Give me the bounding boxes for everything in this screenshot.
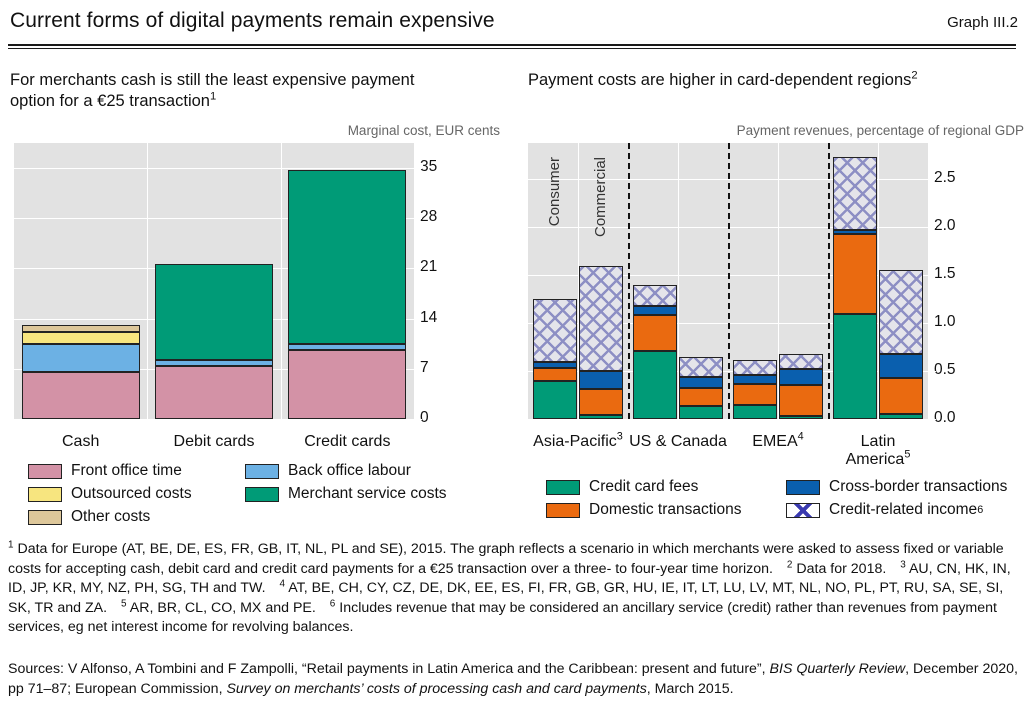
- segment-domestic-transactions: [733, 384, 777, 405]
- segment-cross-border-transactions: [779, 369, 823, 384]
- y-tick-label: 1.5: [934, 266, 984, 282]
- right-subtitle-sup: 2: [911, 70, 917, 82]
- y-tick-label: 14: [420, 310, 460, 326]
- segment-cross-border-transactions: [533, 362, 577, 369]
- segment-domestic-transactions: [879, 378, 923, 414]
- gridline: [14, 168, 414, 169]
- bar-stack-credit-cards: [288, 170, 406, 419]
- bar-stack-emea-commercial: [779, 354, 823, 419]
- x-region-label-asia-pacific: Asia-Pacific3: [528, 433, 628, 451]
- x-region-label-sup: 4: [798, 431, 804, 443]
- annotation-consumer: Consumer: [546, 157, 563, 226]
- left-subtitle-line2: option for a €25 transaction: [10, 92, 210, 110]
- left-subtitle-line1: For merchants cash is still the least ex…: [10, 71, 414, 89]
- legend-item-back-office-labour: Back office labour: [245, 462, 411, 480]
- y-tick-label: 35: [420, 159, 460, 175]
- segment-credit-related-income: [879, 270, 923, 353]
- segment-merchant-service-costs: [155, 264, 273, 360]
- segment-credit-card-fees: [533, 381, 577, 419]
- footnote-mark-3: 3: [900, 559, 906, 570]
- right-chart-legend: Credit card feesDomestic transactionsCro…: [528, 478, 1024, 530]
- segment-credit-related-income: [533, 299, 577, 361]
- y-tick-label: 21: [420, 259, 460, 275]
- segment-credit-card-fees: [679, 406, 723, 419]
- left-axis-unit-caption: Marginal cost, EUR cents: [0, 123, 500, 138]
- bar-stack-us-canada-consumer: [633, 285, 677, 419]
- legend-item-other-costs: Other costs: [28, 508, 150, 526]
- bar-stack-asia-pacific-consumer: [533, 299, 577, 419]
- x-region-label-sup: 5: [904, 449, 910, 461]
- segment-domestic-transactions: [679, 388, 723, 405]
- segment-credit-related-income: [733, 360, 777, 375]
- segment-other-costs: [22, 325, 140, 332]
- x-category-label-debit-cards: Debit cards: [147, 433, 280, 451]
- legend-swatch: [28, 464, 62, 479]
- header: Current forms of digital payments remain…: [0, 4, 1024, 48]
- right-subtitle-text: Payment costs are higher in card-depende…: [528, 71, 911, 89]
- legend-swatch: [546, 480, 580, 495]
- y-tick-label: 0.5: [934, 362, 984, 378]
- legend-label: Outsourced costs: [71, 485, 192, 503]
- y-tick-label: 7: [420, 360, 460, 376]
- y-tick-mark: [928, 227, 936, 228]
- legend-label: Other costs: [71, 508, 150, 526]
- legend-label: Credit-related income: [829, 501, 977, 519]
- page-title: Current forms of digital payments remain…: [10, 9, 495, 33]
- footnote-mark-1: 1: [8, 539, 14, 550]
- y-tick-label: 1.0: [934, 314, 984, 330]
- legend-swatch: [245, 487, 279, 502]
- segment-front-office-time: [22, 372, 140, 419]
- y-tick-mark: [928, 323, 936, 324]
- segment-merchant-service-costs: [288, 170, 406, 344]
- segment-cross-border-transactions: [579, 371, 623, 389]
- sources-italic-2: Survey on merchants’ costs of processing…: [226, 681, 646, 697]
- segment-credit-card-fees: [579, 415, 623, 419]
- y-tick-label: 0: [420, 410, 460, 426]
- footnote-mark-2: 2: [787, 559, 793, 570]
- segment-credit-card-fees: [833, 314, 877, 419]
- segment-front-office-time: [288, 350, 406, 419]
- footnote-mark-4: 4: [280, 578, 286, 589]
- left-chart-legend: Front office timeOutsourced costsOther c…: [0, 462, 512, 532]
- y-tick-mark: [414, 419, 422, 420]
- x-region-label-us-canada: US & Canada: [628, 433, 728, 451]
- footnote-text-5: AR, BR, CL, CO, MX and PE.: [130, 600, 316, 616]
- segment-domestic-transactions: [533, 368, 577, 380]
- header-rule: [8, 44, 1016, 46]
- bar-stack-debit-cards: [155, 264, 273, 419]
- right-chart-plot-area: ConsumerCommercial: [528, 143, 928, 419]
- legend-item-credit-related-income: Credit-related income6: [786, 501, 983, 519]
- bar-stack-latin-america-consumer: [833, 157, 877, 419]
- gridline: [528, 419, 928, 420]
- legend-item-merchant-service-costs: Merchant service costs: [245, 485, 447, 503]
- y-tick-label: 2.0: [934, 218, 984, 234]
- region-separator: [828, 143, 830, 419]
- legend-swatch: [28, 510, 62, 525]
- segment-credit-card-fees: [779, 416, 823, 419]
- segment-credit-card-fees: [879, 414, 923, 419]
- legend-label: Back office labour: [288, 462, 411, 480]
- footnotes: 1 Data for Europe (AT, BE, DE, ES, FR, G…: [8, 540, 1020, 638]
- segment-credit-card-fees: [733, 405, 777, 419]
- segment-front-office-time: [155, 366, 273, 419]
- segment-back-office-labour: [22, 344, 140, 373]
- y-tick-mark: [414, 319, 422, 320]
- left-subtitle-sup: 1: [210, 91, 216, 103]
- legend-item-front-office-time: Front office time: [28, 462, 182, 480]
- legend-swatch: [245, 464, 279, 479]
- category-separator: [147, 143, 148, 419]
- segment-cross-border-transactions: [679, 377, 723, 389]
- y-tick-label: 28: [420, 209, 460, 225]
- graph-page: Current forms of digital payments remain…: [0, 0, 1024, 718]
- y-tick-mark: [414, 268, 422, 269]
- footnote-mark-5: 5: [121, 598, 127, 609]
- legend-item-domestic-transactions: Domestic transactions: [546, 501, 741, 519]
- segment-outsourced-costs: [22, 332, 140, 343]
- right-axis-unit-caption: Payment revenues, percentage of regional…: [520, 123, 1024, 138]
- y-tick-mark: [928, 419, 936, 420]
- bar-stack-asia-pacific-commercial: [579, 266, 623, 419]
- legend-swatch: [786, 503, 820, 518]
- header-rule-thin: [8, 48, 1016, 49]
- legend-swatch: [28, 487, 62, 502]
- y-tick-label: 2.5: [934, 170, 984, 186]
- graph-number: Graph III.2: [947, 14, 1018, 31]
- sources: Sources: V Alfonso, A Tombini and F Zamp…: [8, 660, 1020, 699]
- x-region-label-latin-america: Latin America5: [828, 433, 928, 469]
- y-tick-mark: [414, 168, 422, 169]
- segment-back-office-labour: [288, 344, 406, 350]
- legend-label: Domestic transactions: [589, 501, 741, 519]
- y-tick-label: 0.0: [934, 410, 984, 426]
- segment-domestic-transactions: [779, 385, 823, 417]
- right-panel-subtitle: Payment costs are higher in card-depende…: [528, 70, 1023, 91]
- x-category-label-credit-cards: Credit cards: [281, 433, 414, 451]
- segment-credit-card-fees: [633, 351, 677, 419]
- legend-label: Merchant service costs: [288, 485, 447, 503]
- x-region-label-sup: 3: [617, 431, 623, 443]
- y-tick-mark: [928, 275, 936, 276]
- segment-credit-related-income: [579, 266, 623, 371]
- bar-stack-latin-america-commercial: [879, 270, 923, 419]
- legend-item-outsourced-costs: Outsourced costs: [28, 485, 192, 503]
- bar-stack-us-canada-commercial: [679, 357, 723, 419]
- segment-domestic-transactions: [579, 389, 623, 415]
- legend-item-cross-border-transactions: Cross-border transactions: [786, 478, 1007, 496]
- x-category-label-cash: Cash: [14, 433, 147, 451]
- region-separator: [628, 143, 630, 419]
- segment-domestic-transactions: [833, 234, 877, 314]
- segment-cross-border-transactions: [633, 306, 677, 315]
- legend-swatch: [786, 480, 820, 495]
- segment-back-office-labour: [155, 360, 273, 366]
- legend-label: Front office time: [71, 462, 182, 480]
- segment-cross-border-transactions: [733, 375, 777, 384]
- region-separator: [728, 143, 730, 419]
- segment-cross-border-transactions: [833, 230, 877, 234]
- y-tick-mark: [928, 179, 936, 180]
- segment-credit-related-income: [679, 357, 723, 377]
- segment-credit-related-income: [633, 285, 677, 306]
- segment-credit-related-income: [779, 354, 823, 369]
- bar-stack-cash: [22, 325, 140, 419]
- legend-label: Cross-border transactions: [829, 478, 1007, 496]
- segment-credit-related-income: [833, 157, 877, 230]
- legend-label: Credit card fees: [589, 478, 698, 496]
- footnote-text-2: Data for 2018.: [796, 561, 886, 577]
- annotation-commercial: Commercial: [592, 157, 609, 237]
- sources-prefix: Sources: V Alfonso, A Tombini and F Zamp…: [8, 661, 770, 677]
- gridline: [14, 419, 414, 420]
- footnote-mark-6: 6: [330, 598, 336, 609]
- bar-stack-emea-consumer: [733, 360, 777, 419]
- sources-suffix: , March 2015.: [647, 681, 734, 697]
- sources-italic-1: BIS Quarterly Review: [770, 661, 906, 677]
- left-chart-plot-area: [14, 143, 414, 419]
- segment-domestic-transactions: [633, 315, 677, 351]
- left-panel-subtitle: For merchants cash is still the least ex…: [10, 70, 500, 112]
- y-tick-mark: [928, 371, 936, 372]
- category-separator: [281, 143, 282, 419]
- x-region-label-emea: EMEA4: [728, 433, 828, 451]
- y-tick-mark: [414, 218, 422, 219]
- legend-swatch: [546, 503, 580, 518]
- legend-item-credit-card-fees: Credit card fees: [546, 478, 698, 496]
- y-tick-mark: [414, 369, 422, 370]
- segment-cross-border-transactions: [879, 354, 923, 378]
